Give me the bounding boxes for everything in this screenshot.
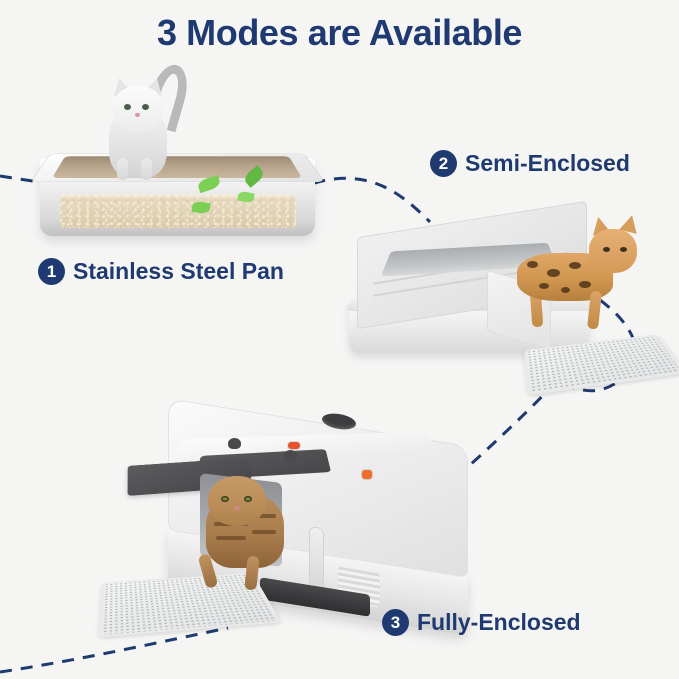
infographic-canvas: 3 Modes are Available — [0, 0, 679, 679]
silver-shorthair-cat — [95, 62, 185, 192]
cat-ear — [206, 463, 225, 469]
cat-spot — [569, 262, 581, 269]
product-semi-enclosed-box — [345, 205, 675, 400]
lid-knob[interactable] — [228, 438, 241, 449]
cat-spot — [547, 269, 560, 277]
orange-latch[interactable] — [362, 470, 372, 479]
step-badge-2: 2 — [430, 150, 457, 177]
cat-nose — [234, 506, 240, 511]
cat-nose — [135, 113, 140, 117]
cat-spot — [539, 283, 549, 289]
litter-granules — [60, 194, 296, 228]
callout-stainless-steel-pan: 1 Stainless Steel Pan — [38, 258, 284, 285]
cat-spot — [561, 287, 570, 293]
cat-spot — [527, 261, 538, 268]
step-badge-3: 3 — [382, 609, 409, 636]
cat-eye — [142, 104, 149, 110]
cat-head — [589, 229, 637, 273]
cat-head — [112, 86, 164, 132]
step-badge-1: 1 — [38, 258, 65, 285]
callout-label-1: Stainless Steel Pan — [73, 258, 284, 285]
brown-tabby-cat — [180, 458, 300, 598]
cat-stripe — [252, 530, 276, 534]
sift-lever[interactable] — [310, 527, 323, 591]
cat-eye — [620, 247, 627, 252]
cat-eye — [124, 104, 131, 110]
callout-label-3: Fully-Enclosed — [417, 609, 581, 636]
cat-head — [208, 476, 266, 526]
cat-stripe — [216, 536, 246, 540]
orange-latch[interactable] — [288, 442, 300, 449]
cat-ear — [246, 463, 265, 469]
cat-spot — [579, 281, 591, 288]
callout-semi-enclosed: 2 Semi-Enclosed — [430, 150, 630, 177]
product-stainless-steel-pan — [30, 100, 330, 260]
cat-leg — [244, 555, 259, 590]
callout-label-2: Semi-Enclosed — [465, 150, 630, 177]
cat-eye — [244, 496, 252, 502]
cat-leg — [141, 158, 152, 180]
cat-eye — [221, 496, 229, 502]
callout-fully-enclosed: 3 Fully-Enclosed — [382, 609, 581, 636]
bengal-cat — [517, 211, 647, 351]
cat-leg — [117, 158, 128, 180]
cat-eye — [603, 247, 610, 252]
